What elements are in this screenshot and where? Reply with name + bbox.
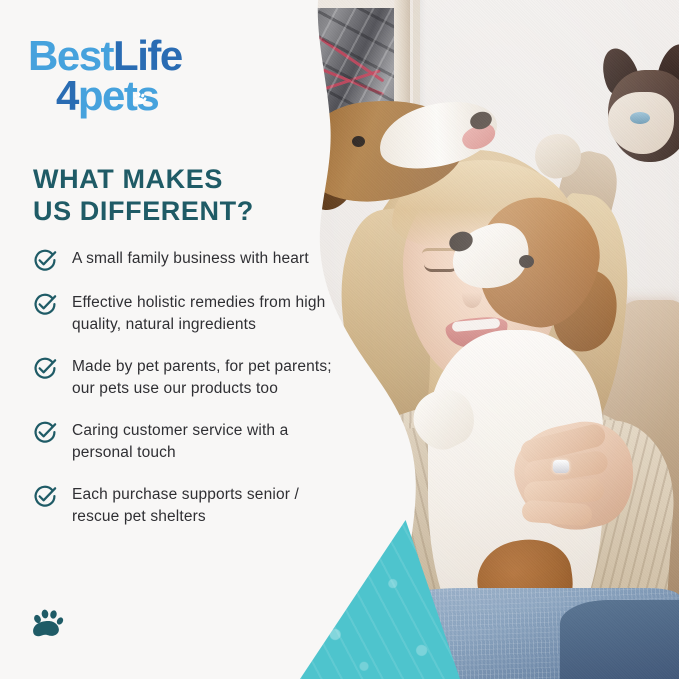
check-circle-icon <box>33 485 57 509</box>
logo-text-four: 4 <box>56 72 78 119</box>
paw-print-icon <box>32 608 66 640</box>
check-circle-icon <box>33 293 57 317</box>
list-item: Made by pet parents, for pet parents; ou… <box>33 356 333 401</box>
info-content: BestLife 4pets WHAT MAKES US DIFFERENT? <box>0 0 330 679</box>
list-item: Each purchase supports senior / rescue p… <box>33 484 333 529</box>
paw-print-icon <box>132 92 147 105</box>
benefits-list: A small family business with heart Effec… <box>33 248 333 548</box>
headline-line-1: WHAT MAKES <box>33 164 254 196</box>
list-item-label: Caring customer service with a personal … <box>72 420 288 465</box>
headline-line-2: US DIFFERENT? <box>33 196 254 228</box>
list-item-label: Made by pet parents, for pet parents; ou… <box>72 356 332 401</box>
list-item-label: A small family business with heart <box>72 248 309 270</box>
check-circle-icon <box>33 357 57 381</box>
list-item-label: Each purchase supports senior / rescue p… <box>72 484 299 529</box>
brand-logo[interactable]: BestLife 4pets <box>28 36 182 117</box>
check-circle-icon <box>33 249 57 273</box>
page-title: WHAT MAKES US DIFFERENT? <box>33 164 254 227</box>
logo-line-one: BestLife <box>28 36 182 76</box>
list-item: Caring customer service with a personal … <box>33 420 333 465</box>
list-item: A small family business with heart <box>33 248 333 273</box>
list-item-label: Effective holistic remedies from high qu… <box>72 292 325 337</box>
logo-line-two: 4pets <box>56 76 182 116</box>
list-item: Effective holistic remedies from high qu… <box>33 292 333 337</box>
photo-grain-overlay <box>290 0 679 679</box>
check-circle-icon <box>33 421 57 445</box>
product-info-card: BestLife 4pets WHAT MAKES US DIFFERENT? <box>0 0 679 679</box>
